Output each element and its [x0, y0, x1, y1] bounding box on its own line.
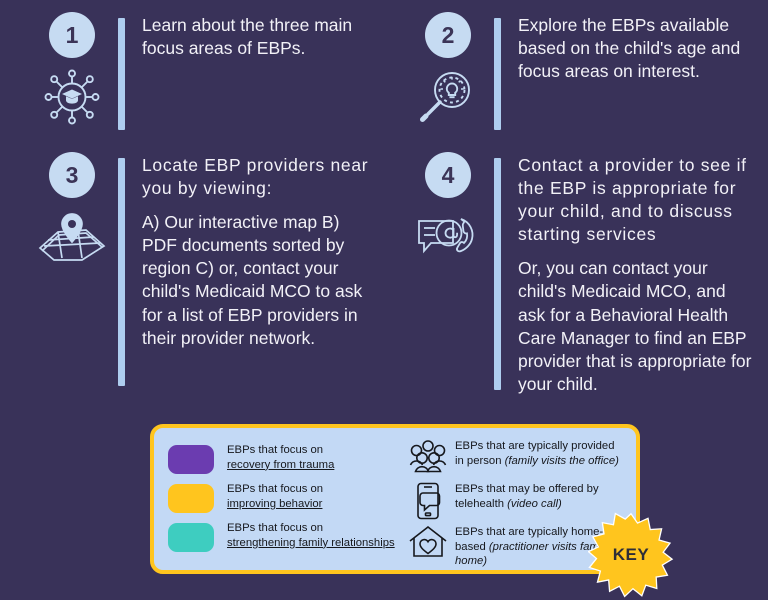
- key-in-person-italic: (family visits the office): [505, 455, 619, 467]
- key-icon-item-in-person: EBPs that are typically provided in pers…: [408, 439, 624, 479]
- step-card-3: 3 Locate EBP providers near: [26, 152, 376, 386]
- key-color-column: EBPs that focus on recovery from trauma …: [168, 438, 408, 560]
- step-4-left: 4: [402, 152, 494, 268]
- step-4-paragraph-1: Contact a provider to see if the EBP is …: [518, 154, 752, 246]
- key-family-line1: EBPs that focus on: [227, 522, 323, 534]
- step-1-text: Learn about the three main focus areas o…: [142, 12, 376, 60]
- infographic-canvas: 1: [0, 0, 768, 600]
- speech-bubble-at-phone-icon: [411, 206, 485, 268]
- key-color-item-trauma: EBPs that focus on recovery from trauma: [168, 443, 408, 474]
- key-color-label-trauma: EBPs that focus on recovery from trauma: [227, 443, 334, 472]
- step-1-paragraph-1: Learn about the three main focus areas o…: [142, 14, 376, 60]
- step-3-left: 3: [26, 152, 118, 268]
- key-color-label-behavior: EBPs that focus on improving behavior: [227, 482, 323, 511]
- key-family-line2: strengthening family relationships: [227, 537, 395, 549]
- key-color-item-behavior: EBPs that focus on improving behavior: [168, 482, 408, 513]
- map-location-pin-icon: [35, 206, 109, 268]
- step-3-paragraph-2: A) Our interactive map B) PDF documents …: [142, 211, 376, 350]
- step-4-text: Contact a provider to see if the EBP is …: [518, 152, 752, 396]
- key-telehealth-italic: (video call): [507, 498, 562, 510]
- house-heart-icon: [408, 525, 448, 565]
- step-3-text: Locate EBP providers near you by viewing…: [142, 152, 376, 350]
- step-divider-bar-2: [494, 18, 501, 130]
- step-number-badge-1: 1: [49, 12, 95, 58]
- key-color-item-family: EBPs that focus on strengthening family …: [168, 521, 408, 552]
- key-trauma-line2: recovery from trauma: [227, 459, 334, 471]
- step-4-paragraph-2: Or, you can contact your child's Medicai…: [518, 257, 752, 396]
- key-badge-label: KEY: [588, 512, 674, 598]
- step-2-paragraph-1: Explore the EBPs available based on the …: [518, 14, 752, 83]
- key-legend-box: EBPs that focus on recovery from trauma …: [150, 424, 640, 574]
- key-trauma-line1: EBPs that focus on: [227, 444, 323, 456]
- network-graduation-cap-icon: [35, 66, 109, 128]
- swatch-yellow: [168, 484, 214, 513]
- key-behavior-line2: improving behavior: [227, 498, 322, 510]
- key-icon-label-in-person: EBPs that are typically provided in pers…: [455, 439, 624, 468]
- swatch-teal: [168, 523, 214, 552]
- steps-container: 1: [0, 0, 768, 410]
- step-1-left: 1: [26, 12, 118, 128]
- key-color-label-family: EBPs that focus on strengthening family …: [227, 521, 395, 550]
- swatch-purple: [168, 445, 214, 474]
- key-starburst-badge: KEY: [588, 512, 674, 598]
- step-divider-bar-4: [494, 158, 501, 390]
- step-card-4: 4 Contact a provider to see if the EBP i…: [402, 152, 752, 396]
- key-behavior-line1: EBPs that focus on: [227, 483, 323, 495]
- magnifier-lightbulb-icon: [411, 66, 485, 128]
- phone-speech-bubble-icon: [408, 482, 448, 522]
- step-number-badge-3: 3: [49, 152, 95, 198]
- key-icon-label-telehealth: EBPs that may be offered by telehealth (…: [455, 482, 624, 511]
- step-divider-bar-3: [118, 158, 125, 386]
- step-3-paragraph-1: Locate EBP providers near you by viewing…: [142, 154, 376, 200]
- step-number-badge-2: 2: [425, 12, 471, 58]
- people-group-icon: [408, 439, 448, 479]
- step-divider-bar-1: [118, 18, 125, 130]
- step-card-2: 2: [402, 12, 752, 130]
- step-card-1: 1: [26, 12, 376, 130]
- step-2-left: 2: [402, 12, 494, 128]
- step-2-text: Explore the EBPs available based on the …: [518, 12, 752, 83]
- step-number-badge-4: 4: [425, 152, 471, 198]
